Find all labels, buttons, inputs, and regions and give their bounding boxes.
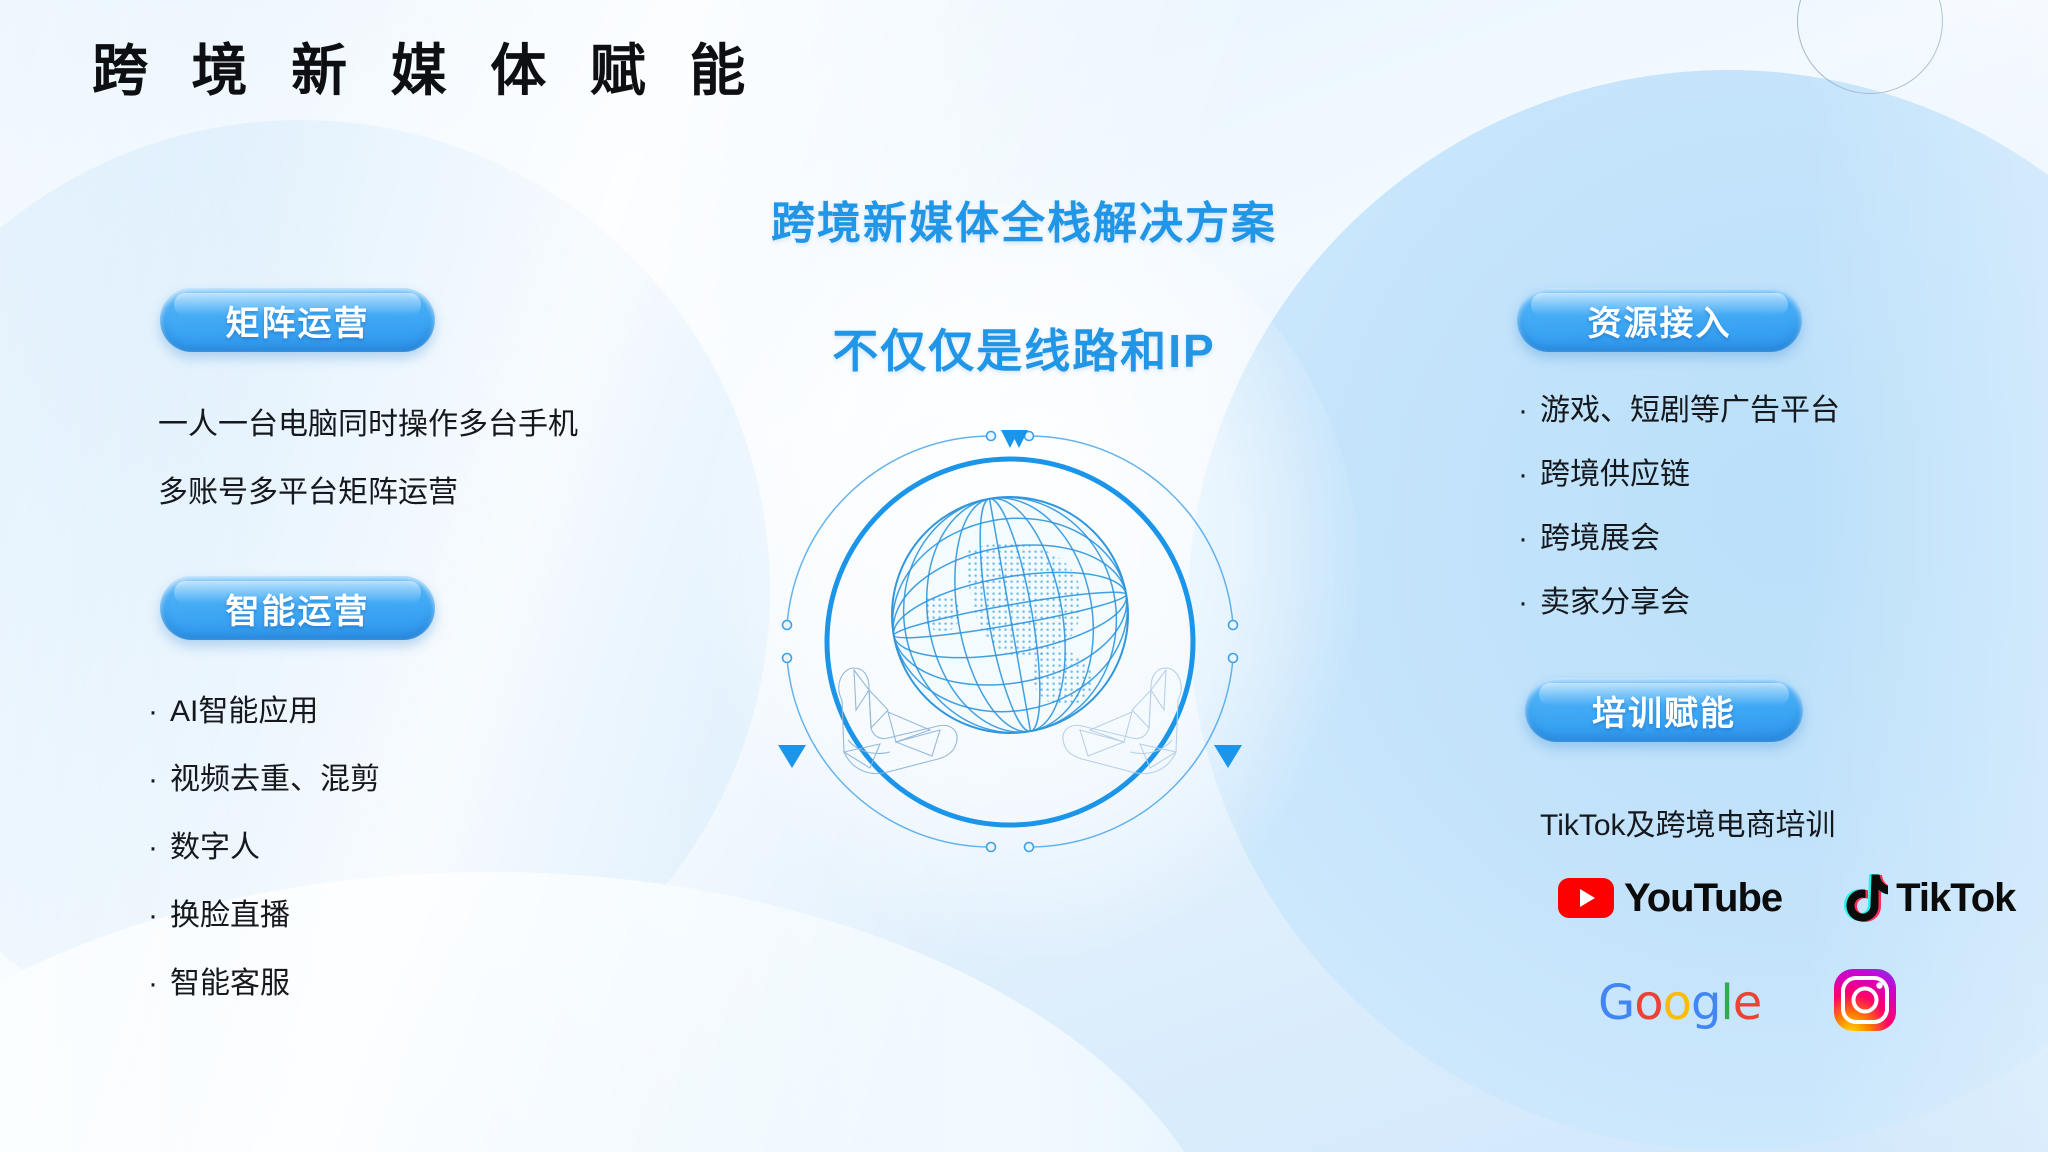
- list-item: ·卖家分享会: [1518, 588, 1840, 618]
- list-item-label: 换脸直播: [170, 899, 290, 932]
- google-letter-4: g: [1691, 975, 1720, 1031]
- list-item: ·智能客服: [148, 969, 380, 999]
- logo-row-bottom: Google: [1598, 968, 1897, 1037]
- youtube-logo[interactable]: YouTube: [1558, 876, 1782, 921]
- list-item-label: 跨境供应链: [1540, 458, 1690, 491]
- google-letter-2: o: [1634, 975, 1662, 1031]
- list-item: ·AI智能应用: [148, 697, 380, 727]
- pill-training-empowerment-label: 培训赋能: [1592, 686, 1736, 735]
- left-bullet-list: ·AI智能应用 ·视频去重、混剪 ·数字人 ·换脸直播 ·智能客服: [148, 697, 380, 1037]
- pill-resource-access[interactable]: 资源接入: [1517, 288, 1802, 352]
- tiktok-logo-label: TikTok: [1896, 876, 2015, 921]
- tiktok-logo[interactable]: TikTok: [1842, 872, 2015, 924]
- list-item: ·游戏、短剧等广告平台: [1518, 396, 1840, 426]
- pill-matrix-operations[interactable]: 矩阵运营: [160, 288, 435, 352]
- youtube-logo-label: YouTube: [1624, 876, 1782, 921]
- pill-smart-operations[interactable]: 智能运营: [160, 576, 435, 640]
- list-item-label: AI智能应用: [170, 695, 318, 728]
- list-item: ·跨境供应链: [1518, 460, 1840, 490]
- list-item-label: 游戏、短剧等广告平台: [1540, 394, 1840, 427]
- google-letter-6: e: [1733, 975, 1762, 1031]
- google-letter-1: G: [1598, 975, 1634, 1031]
- pill-smart-operations-label: 智能运营: [226, 584, 370, 633]
- training-note: TikTok及跨境电商培训: [1540, 800, 1836, 844]
- list-item: ·换脸直播: [148, 901, 380, 931]
- google-logo[interactable]: Google: [1598, 975, 1761, 1031]
- bullet-dot-icon: ·: [148, 763, 158, 796]
- instagram-logo[interactable]: [1833, 968, 1897, 1037]
- bullet-dot-icon: ·: [148, 695, 158, 728]
- bullet-dot-icon: ·: [1518, 586, 1528, 619]
- list-item: ·视频去重、混剪: [148, 765, 380, 795]
- google-letter-5: l: [1720, 975, 1732, 1031]
- bullet-dot-icon: ·: [1518, 522, 1528, 555]
- logo-row-top: YouTube TikTok: [1558, 872, 2015, 924]
- google-letter-3: o: [1663, 975, 1691, 1031]
- bullet-dot-icon: ·: [1518, 458, 1528, 491]
- left-text-line-2: 多账号多平台矩阵运营: [158, 478, 458, 508]
- list-item: ·跨境展会: [1518, 524, 1840, 554]
- list-item-label: 视频去重、混剪: [170, 763, 380, 796]
- list-item-label: 卖家分享会: [1540, 586, 1690, 619]
- bullet-dot-icon: ·: [148, 967, 158, 1000]
- pill-resource-access-label: 资源接入: [1588, 296, 1732, 345]
- globe-in-hands-illustration: [770, 400, 1250, 880]
- right-bullet-list: ·游戏、短剧等广告平台 ·跨境供应链 ·跨境展会 ·卖家分享会: [1518, 396, 1840, 652]
- list-item-label: 数字人: [170, 831, 260, 864]
- pill-training-empowerment[interactable]: 培训赋能: [1525, 678, 1803, 742]
- page-title: 跨 境 新 媒 体 赋 能: [92, 40, 759, 102]
- youtube-play-icon: [1558, 878, 1614, 918]
- bullet-dot-icon: ·: [148, 899, 158, 932]
- bullet-dot-icon: ·: [148, 831, 158, 864]
- list-item-label: 智能客服: [170, 967, 290, 1000]
- tiktok-note-icon: [1842, 872, 1888, 924]
- pill-matrix-operations-label: 矩阵运营: [226, 296, 370, 345]
- list-item-label: 跨境展会: [1540, 522, 1660, 555]
- list-item: ·数字人: [148, 833, 380, 863]
- instagram-camera-icon: [1833, 968, 1897, 1032]
- center-heading-primary: 跨境新媒体全栈解决方案: [0, 187, 2048, 251]
- left-text-line-1: 一人一台电脑同时操作多台手机: [158, 410, 578, 440]
- bullet-dot-icon: ·: [1518, 394, 1528, 427]
